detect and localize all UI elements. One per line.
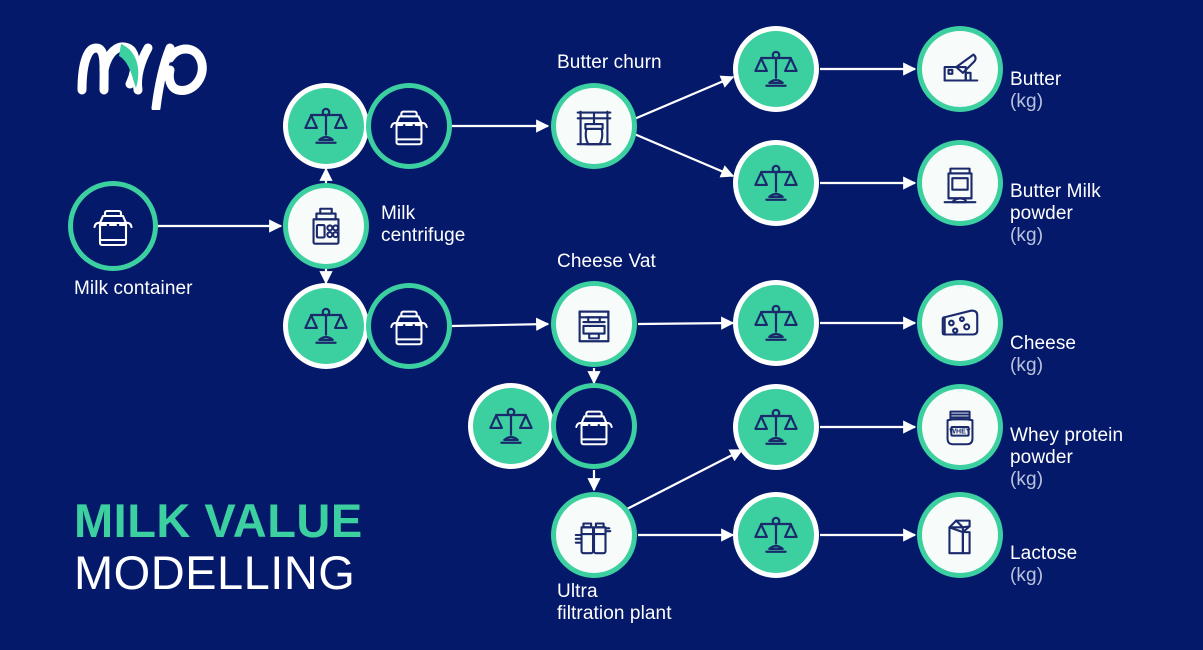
label-product-cheese: Cheese (kg) [1010,311,1076,377]
label-product-butter: Butter (kg) [1010,47,1061,113]
label-product-whey-protein: Whey protein powder (kg) [1010,403,1123,491]
node-milk-centrifuge[interactable] [288,188,364,264]
node-scale-cheese[interactable] [738,285,814,361]
node-product-butter[interactable] [922,31,998,107]
node-ultra-filtration-plant[interactable] [556,497,632,573]
butter-icon [937,46,983,92]
label-ultra-filtration-plant: Ultra filtration plant [557,581,672,625]
product-unit: (kg) [1010,91,1043,112]
cheese-vat-icon [571,301,617,347]
scale-icon [753,46,799,92]
scale-icon [753,160,799,206]
scale-icon [303,103,349,149]
node-scale-lactose[interactable] [738,497,814,573]
page-title: MILK VALUE MODELLING [74,495,363,599]
milk-powder-bag-icon [937,160,983,206]
label-product-butter-milk-powder: Butter Milk powder (kg) [1010,159,1101,247]
centrifuge-icon [303,203,349,249]
product-name: Whey protein powder [1010,425,1123,468]
title-line-1: MILK VALUE [74,495,363,547]
milk-can-icon [89,202,137,250]
product-unit: (kg) [1010,225,1043,246]
node-scale-butter-milk-powder[interactable] [738,145,814,221]
label-milk-container: Milk container [74,278,193,300]
product-unit: (kg) [1010,355,1043,376]
milk-can-icon [571,403,617,449]
scale-icon [753,300,799,346]
product-name: Butter [1010,69,1061,90]
node-whey-can[interactable] [556,388,632,464]
whey-jar-icon [937,404,983,450]
label-product-lactose: Lactose (kg) [1010,521,1077,587]
node-skim-can[interactable] [371,288,447,364]
node-product-lactose[interactable] [922,497,998,573]
wire-uf-to-whey-scale [625,450,742,510]
node-scale-cream[interactable] [288,88,364,164]
node-scale-skim[interactable] [288,288,364,364]
node-scale-whey-protein[interactable] [738,389,814,465]
node-cheese-vat[interactable] [556,286,632,362]
cheese-wedge-icon [937,300,983,346]
node-butter-churn[interactable] [556,88,632,164]
node-product-whey-protein[interactable] [922,389,998,465]
wire-skim-can-to-vat [452,324,548,326]
label-cheese-vat: Cheese Vat [557,251,656,273]
node-product-cheese[interactable] [922,285,998,361]
scale-icon [303,303,349,349]
node-milk-container[interactable] [73,186,153,266]
product-unit: (kg) [1010,469,1043,490]
nxp-logo [74,18,234,115]
scale-icon [488,403,534,449]
title-line-2: MODELLING [74,547,363,599]
node-scale-butter[interactable] [738,31,814,107]
scale-icon [753,512,799,558]
product-unit: (kg) [1010,565,1043,586]
butter-churn-icon [571,103,617,149]
wire-churn-to-bmp-scale [632,133,733,176]
product-name: Lactose [1010,543,1077,564]
milk-can-icon [386,303,432,349]
node-cream-can[interactable] [371,88,447,164]
label-butter-churn: Butter churn [557,52,662,74]
wire-vat-to-cheese-scale [638,323,733,324]
product-name: Butter Milk powder [1010,181,1101,224]
scale-icon [753,404,799,450]
node-product-butter-milk-powder[interactable] [922,145,998,221]
lactose-carton-icon [937,512,983,558]
node-scale-whey-inlet[interactable] [473,388,549,464]
label-milk-centrifuge: Milk centrifuge [381,203,465,247]
wire-churn-to-butter-scale [632,77,733,120]
uf-plant-icon [571,512,617,558]
milk-can-icon [386,103,432,149]
milk-value-modelling-diagram: WHEY [0,0,1203,650]
product-name: Cheese [1010,333,1076,354]
